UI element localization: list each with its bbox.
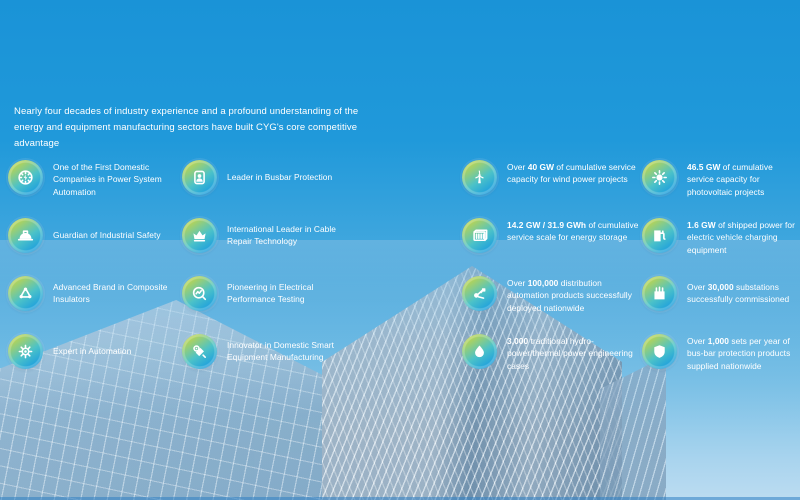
- photovoltaic-sun-icon: [642, 160, 677, 195]
- achievement-label: Over 30,000 substations successfully com…: [687, 276, 799, 306]
- achievement-label: Expert in Automation: [53, 334, 177, 357]
- achievement-label: Guardian of Industrial Safety: [53, 218, 177, 241]
- achievement-label: Over 40 GW of cumulative service capacit…: [507, 160, 640, 186]
- substation-icon: [642, 276, 677, 311]
- achievement-item: 3,000 traditional hydro-power/thermal po…: [462, 334, 640, 372]
- achievement-item: Advanced Brand in Composite Insulators: [8, 276, 177, 311]
- achievement-label: Over 100,000 distribution automation pro…: [507, 276, 640, 314]
- achievement-item: Over 1,000 sets per year of bus-bar prot…: [642, 334, 799, 372]
- hard-hat-icon: [8, 218, 43, 253]
- hydro-power-drop-icon: [462, 334, 497, 369]
- achievement-item: International Leader in Cable Repair Tec…: [182, 218, 351, 253]
- composite-insulator-icon: [8, 276, 43, 311]
- ev-charging-icon: [642, 218, 677, 253]
- achievement-item: Over 40 GW of cumulative service capacit…: [462, 160, 640, 195]
- smart-equipment-icon: [182, 334, 217, 369]
- achievement-label: 14.2 GW / 31.9 GWh of cumulative service…: [507, 218, 640, 244]
- achievement-label: Advanced Brand in Composite Insulators: [53, 276, 177, 306]
- promo-banner: Nearly four decades of industry experien…: [0, 0, 800, 500]
- busbar-protection-icon: [182, 160, 217, 195]
- automation-gears-icon: [8, 334, 43, 369]
- achievement-item: Pioneering in Electrical Performance Tes…: [182, 276, 351, 311]
- achievement-item: Over 30,000 substations successfully com…: [642, 276, 799, 311]
- achievement-item: One of the First Domestic Companies in P…: [8, 160, 177, 198]
- achievement-label: Innovator in Domestic Smart Equipment Ma…: [227, 334, 351, 364]
- achievement-item: 46.5 GW of cumulative service capacity f…: [642, 160, 799, 198]
- achievement-label: 46.5 GW of cumulative service capacity f…: [687, 160, 799, 198]
- cable-repair-crown-icon: [182, 218, 217, 253]
- energy-storage-icon: [462, 218, 497, 253]
- achievement-item: Over 100,000 distribution automation pro…: [462, 276, 640, 314]
- power-automation-gear-icon: [8, 160, 43, 195]
- achievement-label: Pioneering in Electrical Performance Tes…: [227, 276, 351, 306]
- achievement-label: International Leader in Cable Repair Tec…: [227, 218, 351, 248]
- intro-paragraph: Nearly four decades of industry experien…: [14, 104, 374, 152]
- shield-check-icon: [642, 334, 677, 369]
- achievement-label: 3,000 traditional hydro-power/thermal po…: [507, 334, 640, 372]
- wind-turbine-icon: [462, 160, 497, 195]
- achievement-item: Guardian of Industrial Safety: [8, 218, 177, 253]
- achievement-item: 14.2 GW / 31.9 GWh of cumulative service…: [462, 218, 640, 253]
- achievement-item: 1.6 GW of shipped power for electric veh…: [642, 218, 799, 256]
- achievement-item: Leader in Busbar Protection: [182, 160, 351, 195]
- achievement-label: Over 1,000 sets per year of bus-bar prot…: [687, 334, 799, 372]
- achievement-item: Expert in Automation: [8, 334, 177, 369]
- glass-tower-far-image: [600, 356, 800, 500]
- achievement-label: 1.6 GW of shipped power for electric veh…: [687, 218, 799, 256]
- achievement-item: Innovator in Domestic Smart Equipment Ma…: [182, 334, 351, 369]
- distribution-automation-icon: [462, 276, 497, 311]
- achievement-label: Leader in Busbar Protection: [227, 160, 351, 183]
- achievement-label: One of the First Domestic Companies in P…: [53, 160, 177, 198]
- performance-testing-icon: [182, 276, 217, 311]
